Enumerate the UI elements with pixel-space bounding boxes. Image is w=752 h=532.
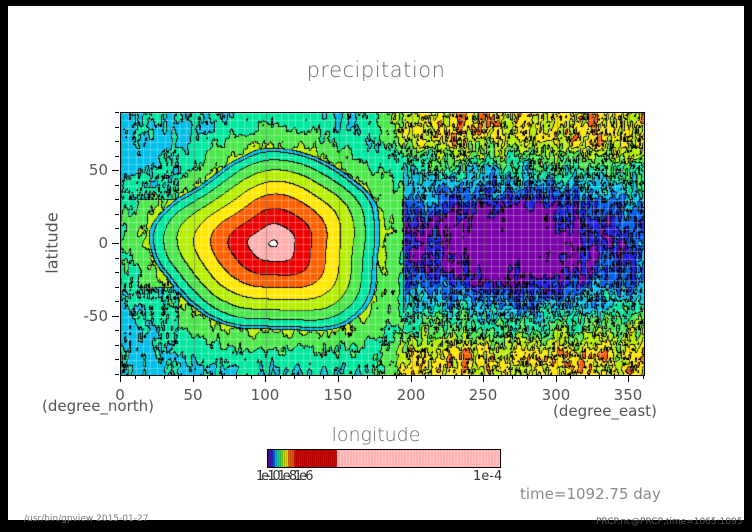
x-axis-tick xyxy=(628,375,629,382)
x-axis-minor-tick xyxy=(425,375,426,379)
x-axis-tick xyxy=(338,375,339,382)
y-axis-minor-tick xyxy=(115,156,119,157)
y-axis-minor-tick xyxy=(115,272,119,273)
y-axis-minor-tick xyxy=(115,330,119,331)
x-axis-minor-tick xyxy=(440,375,441,379)
x-axis-tick-label: 0 xyxy=(115,386,125,404)
x-axis-minor-tick xyxy=(570,375,571,379)
x-axis-minor-tick xyxy=(469,375,470,379)
x-axis-minor-tick xyxy=(599,375,600,379)
y-axis-minor-tick xyxy=(115,359,119,360)
x-axis-tick-label: 250 xyxy=(469,386,498,404)
x-axis-minor-tick xyxy=(149,375,150,379)
x-axis-tick xyxy=(411,375,412,382)
x-axis-minor-tick xyxy=(382,375,383,379)
contour-plot-panel xyxy=(120,112,645,376)
colorbar-min-label: 1e-101e-81e-6 xyxy=(256,469,310,484)
x-axis-label-left: (degree_north) xyxy=(42,397,154,415)
y-axis-minor-tick xyxy=(115,301,119,302)
screenshot-root: precipitation latitude (degree_north) (d… xyxy=(0,0,752,532)
x-axis-minor-tick xyxy=(396,375,397,379)
y-axis-tick xyxy=(112,170,119,171)
x-axis-minor-tick xyxy=(527,375,528,379)
x-axis-tick-label: 300 xyxy=(542,386,571,404)
colorbar xyxy=(267,449,501,468)
y-axis-tick-label: 0 xyxy=(72,234,108,252)
x-axis-label-right: (degree_east) xyxy=(553,402,657,420)
page-title: precipitation xyxy=(8,58,744,82)
x-axis-minor-tick xyxy=(222,375,223,379)
y-axis-minor-tick xyxy=(115,345,119,346)
x-axis-minor-tick xyxy=(178,375,179,379)
y-axis-minor-tick xyxy=(115,258,119,259)
y-axis-minor-tick xyxy=(115,214,119,215)
colorbar-gradient xyxy=(268,450,500,467)
y-axis-minor-tick xyxy=(115,228,119,229)
y-axis-tick xyxy=(112,316,119,317)
y-axis-minor-tick xyxy=(115,374,119,375)
y-axis-minor-tick xyxy=(115,199,119,200)
x-axis-minor-tick xyxy=(294,375,295,379)
x-axis-minor-tick xyxy=(367,375,368,379)
x-axis-minor-tick xyxy=(323,375,324,379)
x-axis-minor-tick xyxy=(585,375,586,379)
x-axis-tick-label: 50 xyxy=(183,386,202,404)
x-axis-minor-tick xyxy=(309,375,310,379)
x-axis-minor-tick xyxy=(498,375,499,379)
footer-command: /usr/bin/gpview 2015-01-27 xyxy=(24,514,148,524)
figure-canvas: precipitation latitude (degree_north) (d… xyxy=(8,6,744,520)
x-axis-tick-label: 150 xyxy=(324,386,353,404)
x-axis-tick xyxy=(120,375,121,382)
x-axis-minor-tick xyxy=(454,375,455,379)
footer-source: PRCP.nc@PRCP,time=1065:1095 xyxy=(596,517,743,527)
x-axis-minor-tick xyxy=(236,375,237,379)
precipitation-field xyxy=(121,113,644,375)
x-axis-tick xyxy=(556,375,557,382)
x-axis-minor-tick xyxy=(251,375,252,379)
x-axis-minor-tick xyxy=(280,375,281,379)
x-axis-minor-tick xyxy=(352,375,353,379)
x-axis-minor-tick xyxy=(643,375,644,379)
y-axis-minor-tick xyxy=(115,185,119,186)
x-axis-tick-label: 350 xyxy=(614,386,643,404)
x-axis-minor-tick xyxy=(164,375,165,379)
y-axis-minor-tick xyxy=(115,287,119,288)
x-axis-minor-tick xyxy=(207,375,208,379)
colorbar-max-label: 1e-4 xyxy=(473,469,502,484)
x-axis-tick xyxy=(193,375,194,382)
y-axis-tick-label: -50 xyxy=(72,307,108,325)
x-axis-minor-tick xyxy=(541,375,542,379)
y-axis-tick xyxy=(112,243,119,244)
y-axis-label: latitude xyxy=(43,212,62,273)
x-axis-tick xyxy=(483,375,484,382)
x-axis-minor-tick xyxy=(614,375,615,379)
time-annotation: time=1092.75 day xyxy=(520,485,661,503)
x-axis-minor-tick xyxy=(135,375,136,379)
colorbar-title: longitude xyxy=(8,424,744,446)
y-axis-tick-label: 50 xyxy=(72,161,108,179)
x-axis-tick-label: 200 xyxy=(397,386,426,404)
y-axis-minor-tick xyxy=(115,112,119,113)
x-axis-tick-label: 100 xyxy=(251,386,280,404)
x-axis-minor-tick xyxy=(512,375,513,379)
y-axis-minor-tick xyxy=(115,127,119,128)
x-axis-tick xyxy=(265,375,266,382)
y-axis-minor-tick xyxy=(115,141,119,142)
